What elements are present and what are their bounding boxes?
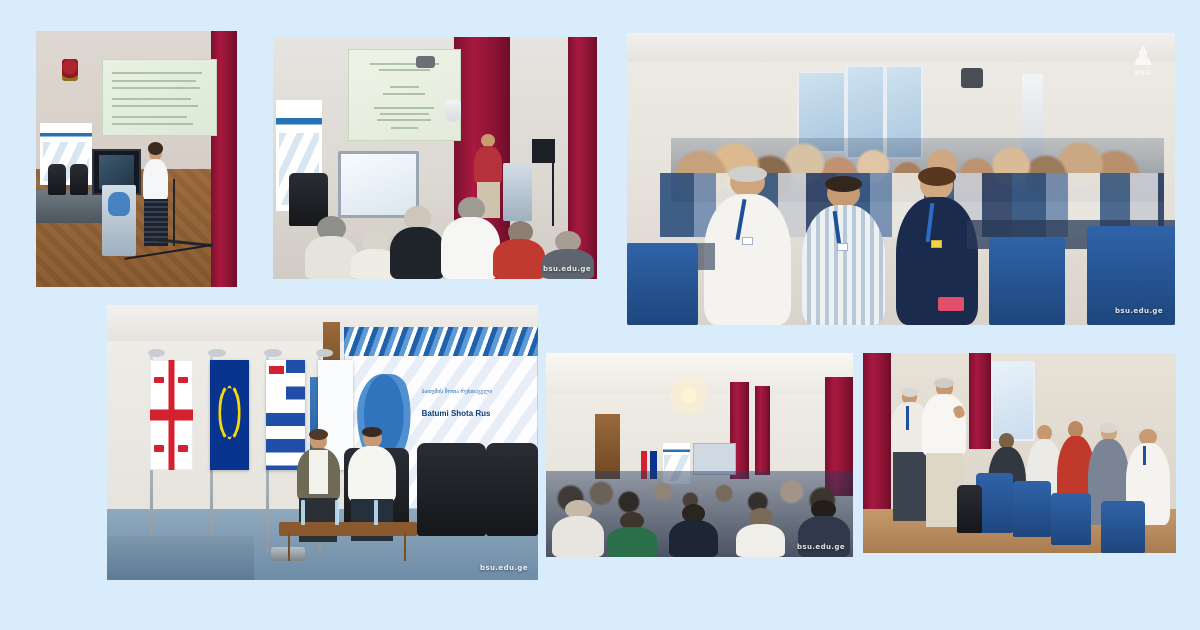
water-bottle [301, 500, 305, 525]
photo-speaker-at-podium[interactable] [36, 31, 237, 287]
projection-screen [102, 59, 217, 136]
delegate-front-right [896, 170, 978, 325]
armchair-empty [486, 443, 538, 537]
banner-title-georgian: ბათუმის შოთა რუსთაველი [422, 389, 493, 395]
watermark: bsu.edu.ge [543, 265, 591, 273]
photo-collage: bsu.edu.ge ♟ BSU [0, 0, 1200, 630]
ceiling-projector [416, 56, 435, 68]
name-badge [837, 243, 848, 251]
georgian-coat-of-arms-icon [62, 59, 78, 81]
water-bottle [374, 500, 378, 525]
watermark: bsu.edu.ge [797, 543, 845, 551]
photo-5-scene: bsu.edu.ge [546, 353, 853, 557]
chandelier [663, 373, 715, 418]
banner-title-english: Batumi Shota Rus [422, 409, 491, 418]
name-badge [931, 240, 942, 248]
watermark: bsu.edu.ge [1115, 307, 1163, 315]
photo-seated-audience-wide[interactable]: ♟ BSU [627, 33, 1175, 325]
photo-panel-discussion-with-flags[interactable]: ბათუმის შოთა რუსთაველი Batumi Shota Rus … [107, 305, 538, 580]
lanyard [1143, 446, 1146, 465]
lanyard [906, 406, 909, 430]
podium [102, 185, 136, 257]
title-slide [348, 49, 461, 141]
wall-speaker [445, 100, 461, 122]
photo-6-scene [863, 353, 1176, 553]
photo-3-scene: ♟ BSU [627, 33, 1175, 325]
delegate-front-left [704, 167, 792, 325]
photo-presenter-with-microphone[interactable]: bsu.edu.ge [273, 37, 597, 279]
photo-1-scene [36, 31, 237, 287]
red-folder [938, 297, 964, 311]
presenter [141, 144, 171, 246]
photo-discussion-session[interactable] [863, 353, 1176, 553]
delegate-front-center [802, 179, 884, 325]
photo-4-scene: ბათუმის შოთა რუსთაველი Batumi Shota Rus … [107, 305, 538, 580]
name-badge [742, 237, 753, 245]
photo-2-scene: bsu.edu.ge [273, 37, 597, 279]
bsu-logo: ♟ BSU [1123, 43, 1163, 77]
armchair-right [417, 443, 486, 537]
photo-conference-hall-rear-view[interactable]: bsu.edu.ge [546, 353, 853, 557]
water-bottle [335, 500, 339, 525]
watermark: bsu.edu.ge [480, 564, 528, 572]
